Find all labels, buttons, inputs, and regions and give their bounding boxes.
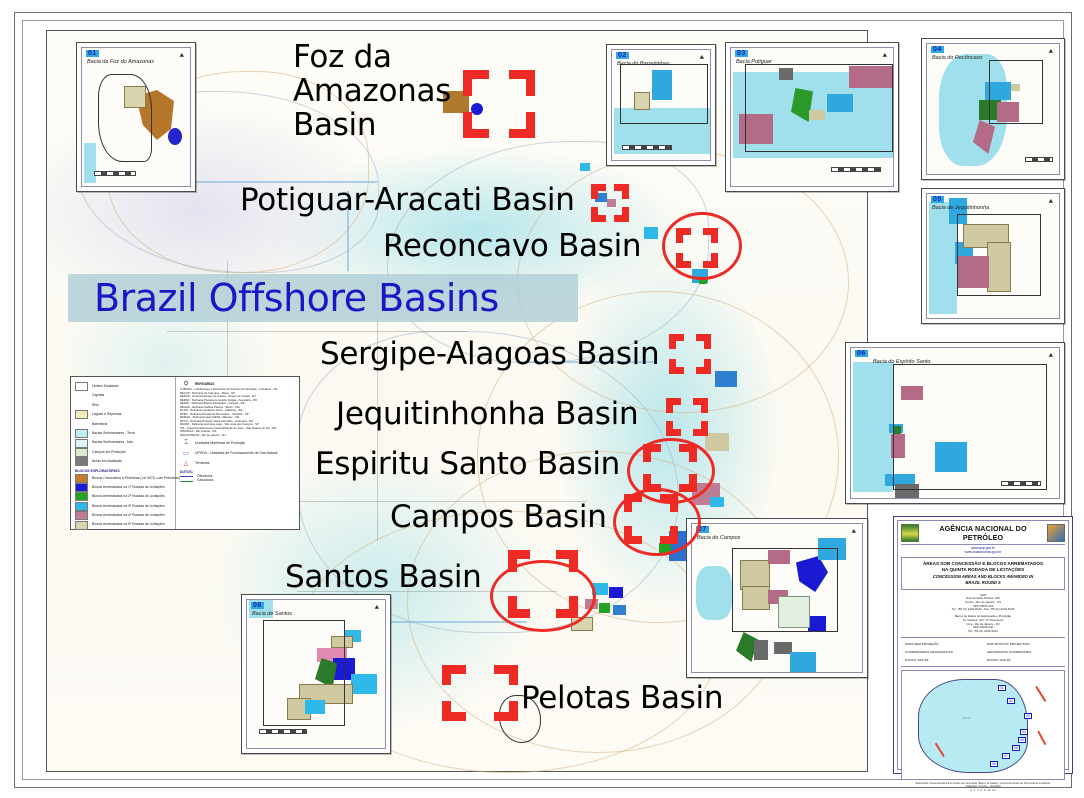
inset-map-05[interactable]: 05 Bacia de Jequitinhonha ⯅: [921, 188, 1065, 324]
keymap-streak-1: [1036, 685, 1047, 701]
block-santos-6: [571, 617, 593, 631]
north-arrow-icon: ⯅: [179, 52, 185, 60]
keymap-index-08[interactable]: 08: [990, 761, 998, 767]
refineries-header: REFINARIAS: [195, 382, 214, 386]
legend-swatch: [75, 410, 88, 419]
legend-item: Campos em Produção: [75, 448, 172, 457]
legend-label: Limites Estaduais: [92, 385, 119, 388]
block-cluster-campos-3: [659, 543, 671, 553]
legend-label: Lagoas e Represas: [92, 413, 121, 416]
inset-08-name: Bacia de Santos: [252, 611, 292, 617]
legend-label: Blocos Arrematados na 2ª Rodada de Licit…: [92, 495, 165, 498]
refinery-entry: MANGUINHOS - Rio de Janeiro - RJ: [180, 434, 296, 438]
inset-05-number: 05: [931, 196, 944, 203]
brazil-outline: [918, 679, 1028, 773]
anp-title-pt-1: ÁREAS SOB CONCESSÃO E BLOCOS ARREMATADOS: [904, 561, 1062, 567]
block-cluster-barreirinhas: [580, 163, 590, 171]
anp-key-map[interactable]: BRASIL 01 02 03 04 05 06 07 08: [901, 670, 1065, 780]
legend-label: Bacias Sedimentares - Terra: [92, 432, 135, 435]
inset-04-name: Bacia do Recôncavo: [932, 55, 982, 61]
keymap-streak-2: [1038, 730, 1047, 745]
legend-label: Capitais: [92, 394, 104, 397]
legend-symbol-row: △ Terminais: [180, 460, 296, 467]
legend-item: Bacias Sedimentares - Mar: [75, 438, 172, 447]
inset-map-08[interactable]: 08 Bacia de Santos ⯅: [241, 594, 391, 754]
footer-date: Atualizado: Outubro - Nov/2003: [901, 785, 1065, 788]
legend-item: Blocos Arrematados na 5ª Rodada de Licit…: [75, 520, 172, 529]
legend-swatch: [75, 392, 88, 401]
inset-01-number: 01: [86, 50, 99, 57]
inset-04-number: 04: [931, 46, 944, 53]
legend-swatch: [75, 382, 88, 391]
legend-swatch: [75, 511, 88, 520]
anp-header: AGÊNCIA NACIONAL DO PETRÓLEO: [901, 524, 1065, 545]
inset-02-name: Bacia do Barreirinhas: [617, 61, 670, 67]
inset-map-03[interactable]: 03 Bacia Potiguar ⯅: [725, 42, 899, 192]
inset-03-name: Bacia Potiguar: [736, 59, 772, 65]
square-icon: ▭: [180, 450, 192, 457]
inset-06-name: Bacia do Espírito Santo: [873, 359, 930, 365]
block-cluster-espirito-santo-2: [710, 497, 724, 507]
legend-symbol-row: ▭ UPGN's - Unidades de Processamento de …: [180, 450, 296, 457]
inset-map-01[interactable]: 01 Bacia da Foz do Amazonas ⯅: [76, 42, 196, 192]
page-title: Brazil Offshore Basins: [68, 276, 499, 320]
legend-item: Áreas em Avaliação: [75, 457, 172, 466]
triangle-icon: △: [180, 460, 192, 467]
label-sergipe-alagoas: Sergipe-Alagoas Basin: [320, 337, 659, 371]
legend-symbol-row: ⌶ Unidades Marítimas de Produção: [180, 440, 296, 447]
inset-map-04[interactable]: 04 Bacia do Recôncavo ⯅: [921, 38, 1065, 180]
legend-swatch: [75, 420, 88, 429]
legend-item: Batimetria: [75, 420, 172, 429]
legend-swatch: [75, 457, 88, 466]
block-santos-2: [609, 587, 623, 598]
anp-address: ANP Rua Senador Dantas, 105 Centro - Rio…: [901, 594, 1065, 634]
legend-swatch: [75, 483, 88, 492]
legend-item: Blocos Arrematados na 1ª Rodada de Licit…: [75, 483, 172, 492]
legend-swatch: [75, 448, 88, 457]
legend-label: Gasodutos: [197, 479, 213, 482]
address-line: Tel.: (55 21) 2543-9012: [901, 630, 1065, 634]
label-campos: Campos Basin: [390, 500, 607, 534]
map-page: 01 Bacia da Foz do Amazonas ⯅ 02 Bacia d…: [0, 0, 1084, 798]
anp-logo-icon: [901, 524, 919, 542]
anp-coordinate-note: MAPA SEM PROJEÇÃO COORDENADAS GEOGRÁFICA…: [901, 637, 1065, 667]
inset-02-number: 02: [616, 52, 629, 59]
page-title-banner: Brazil Offshore Basins: [68, 274, 578, 322]
block-cluster-aracati: [644, 227, 658, 239]
block-cluster-sergipe: [715, 371, 737, 387]
keymap-index-01[interactable]: 01: [998, 685, 1006, 691]
legend-swatch: [75, 521, 88, 530]
label-santos: Santos Basin: [285, 560, 482, 594]
anp-title-pt-2: NA QUINTA RODADA DE LICITAÇÕES: [904, 567, 1062, 573]
legend-label: Campos em Produção: [92, 451, 126, 454]
legend-item: Blocos Arrematados na 3ª Rodada de Licit…: [75, 502, 172, 511]
anp-urls: www.anp.gov.br www.brasilrounds.gov.br: [901, 546, 1065, 555]
legend-swatch: [75, 502, 88, 511]
block-cluster-amazonas-2: [471, 103, 483, 115]
legend-label: Blocos Arrematados na 3ª Rodada de Licit…: [92, 505, 165, 508]
north-arrow-icon: ⯅: [882, 52, 888, 60]
label-jequitinhonha: Jequitinhonha Basin: [336, 397, 638, 431]
label-potiguar-aracati: Potiguar-Aracati Basin: [240, 183, 575, 217]
block-cluster-reconcavo-2: [699, 277, 707, 284]
anp-scale-bar: 0 2 4 6 8 10 km: [901, 789, 1065, 792]
map-legend[interactable]: Limites Estaduais Capitais Rios Lagoas e…: [70, 376, 300, 530]
anp-agency-name: AGÊNCIA NACIONAL DO PETRÓLEO: [919, 524, 1047, 542]
north-arrow-icon: ⯅: [699, 54, 705, 62]
label-pelotas: Pelotas Basin: [521, 681, 723, 715]
legend-swatch: [75, 492, 88, 501]
inset-08-number: 08: [251, 602, 264, 609]
platform-icon: ⌶: [180, 440, 192, 447]
inset-03-number: 03: [735, 50, 748, 57]
label-reconcavo: Reconcavo Basin: [383, 229, 641, 263]
gas-pipeline-icon: [180, 481, 193, 482]
legend-label: Terminais: [195, 462, 210, 465]
block-cluster-potiguar-1: [595, 193, 607, 202]
legend-left-column: Limites Estaduais Capitais Rios Lagoas e…: [71, 377, 176, 529]
legend-label: Blocos Arrematados na 1ª Rodada de Licit…: [92, 486, 165, 489]
north-arrow-icon: ⯅: [1048, 198, 1054, 206]
legend-swatch: [75, 429, 88, 438]
label-foz-da-amazonas: Foz da Amazonas Basin: [293, 40, 451, 142]
block-santos-3: [585, 599, 598, 609]
legend-symbol-row: Gasodutos: [180, 479, 296, 482]
north-arrow-icon: ⯅: [851, 528, 857, 536]
legend-label: Blocos Arrematados na 5ª Rodada de Licit…: [92, 523, 165, 526]
legend-label: Rios: [92, 404, 99, 407]
coord-note-pt: MAPA SEM PROJEÇÃO COORDENADAS GEOGRÁFICA…: [901, 638, 983, 666]
inset-07-name: Bacia de Campos: [697, 535, 740, 541]
legend-label: UPGN's - Unidades de Processamento de Gá…: [195, 452, 277, 455]
anp-title-block[interactable]: AGÊNCIA NACIONAL DO PETRÓLEO www.anp.gov…: [893, 516, 1073, 774]
block-santos-4: [599, 603, 610, 613]
keymap-index-06[interactable]: 06: [1012, 745, 1020, 751]
legend-label: Blocos Arrematados na 4ª Rodada de Licit…: [92, 514, 165, 517]
keymap-index-05[interactable]: 05: [1018, 737, 1026, 743]
anp-map-title: ÁREAS SOB CONCESSÃO E BLOCOS ARREMATADOS…: [901, 557, 1065, 590]
state-boundary-3: [167, 331, 467, 332]
legend-blocks-header: BLOCOS EXPLORATÓRIOS: [75, 469, 172, 473]
legend-label: Unidades Marítimas de Produção: [195, 442, 245, 445]
legend-label: Batimetria: [92, 423, 107, 426]
anp-url-2[interactable]: www.brasilrounds.gov.br: [901, 550, 1065, 554]
block-santos-1: [592, 583, 608, 595]
legend-swatch: [75, 401, 88, 410]
legend-item: Rios: [75, 401, 172, 410]
inset-06-number: 06: [855, 350, 868, 357]
keymap-index-03[interactable]: 03: [1024, 713, 1032, 719]
north-arrow-icon: ⯅: [1048, 352, 1054, 360]
block-cluster-potiguar-2: [607, 199, 616, 207]
legend-item: Blocos Arrematados na 4ª Rodada de Licit…: [75, 511, 172, 520]
legend-item: Capitais: [75, 391, 172, 400]
legend-item: Bacias Sedimentares - Terra: [75, 429, 172, 438]
north-arrow-icon: ⯅: [374, 604, 380, 612]
legend-label: Blocos Concedidos à Petrobras (Lei 9478,…: [92, 477, 180, 480]
legend-item: Blocos Concedidos à Petrobras (Lei 9478,…: [75, 474, 172, 483]
legend-right-column: ⛭ REFINARIAS LUBNOR - Lubrificantes e De…: [176, 377, 299, 529]
keymap-index-07[interactable]: 07: [1002, 753, 1010, 759]
brasil-rounds-logo-icon: [1047, 524, 1065, 542]
inset-map-07[interactable]: 07 Bacia de Campos ⯅: [686, 518, 868, 678]
legend-item: Lagoas e Represas: [75, 410, 172, 419]
block-cluster-jequitinhonha: [705, 433, 729, 451]
legend-item: Limites Estaduais: [75, 382, 172, 391]
inset-05-name: Bacia de Jequitinhonha: [932, 205, 989, 211]
oil-pipeline-icon: [180, 476, 193, 477]
inset-map-02[interactable]: 02 Bacia do Barreirinhas ⯅: [606, 44, 716, 166]
keymap-index-02[interactable]: 02: [1007, 698, 1015, 704]
inset-01-name: Bacia da Foz do Amazonas: [87, 59, 154, 65]
anp-title-en-1: CONCESSION AREAS AND BLOCKS AWARDED IN: [904, 574, 1062, 579]
legend-swatch: [75, 474, 88, 483]
block-santos-5: [613, 605, 626, 615]
coord-note-en: MAP WITHOUT PROJECTION GEOGRAPHIC COORDI…: [983, 638, 1065, 666]
inset-07-number: 07: [696, 526, 709, 533]
anp-title-en-2: BRAZIL ROUND 5: [904, 580, 1062, 585]
legend-label: Áreas em Avaliação: [92, 460, 122, 463]
keymap-index-04[interactable]: 04: [1020, 729, 1028, 735]
inset-map-06[interactable]: 06 Bacia do Espírito Santo ⯅: [845, 342, 1065, 504]
legend-label: Bacias Sedimentares - Mar: [92, 441, 133, 444]
anp-footer: Elaboração: Superintendência de Dados de…: [901, 782, 1065, 788]
brazil-country-label: BRASIL: [962, 717, 971, 720]
legend-item: Blocos Arrematados na 2ª Rodada de Licit…: [75, 492, 172, 501]
north-arrow-icon: ⯅: [1048, 48, 1054, 56]
label-espiritu-santo: Espiritu Santo Basin: [315, 447, 620, 481]
legend-swatch: [75, 439, 88, 448]
